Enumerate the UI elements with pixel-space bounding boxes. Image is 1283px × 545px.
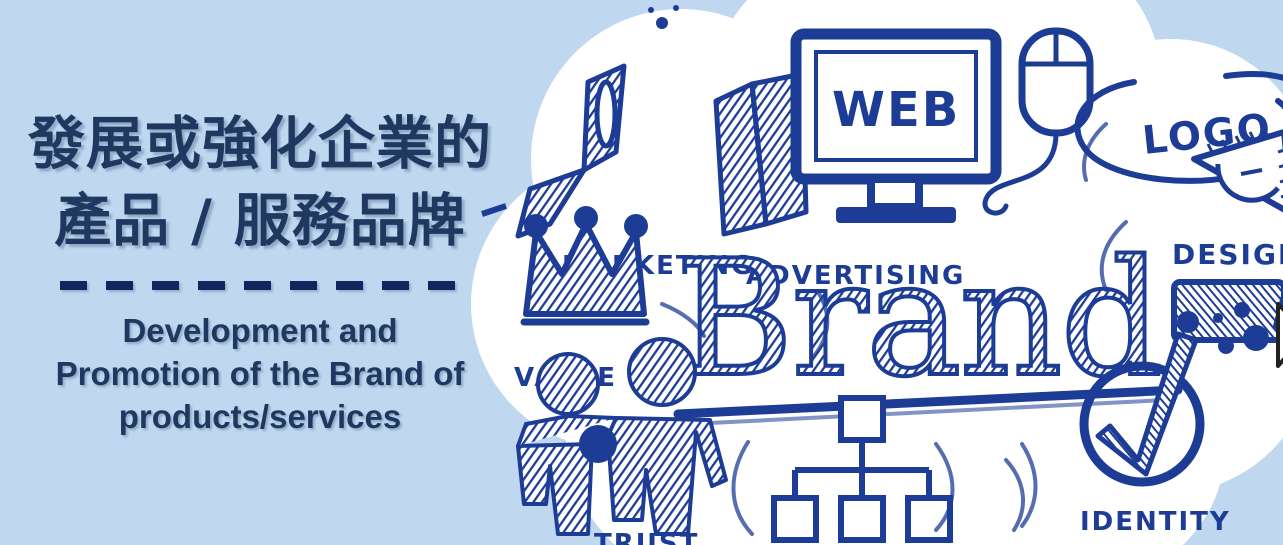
page-title-cjk-line2: 產品 / 服務品牌 — [28, 183, 492, 259]
banner: 發展或強化企業的 產品 / 服務品牌 Development and Promo… — [0, 0, 1283, 545]
page-title-cjk-line1: 發展或強化企業的 — [28, 106, 492, 182]
page-subtitle-en-line1: Development and — [56, 310, 465, 353]
page-title-cjk: 發展或強化企業的 產品 / 服務品牌 — [28, 106, 492, 259]
page-subtitle-en-line2: Promotion of the Brand of — [56, 353, 465, 396]
page-subtitle-en-line3: products/services — [56, 396, 465, 439]
cloud-shape — [466, 0, 1283, 545]
dashed-divider — [60, 281, 460, 290]
left-text-panel: 發展或強化企業的 產品 / 服務品牌 Development and Promo… — [0, 0, 520, 545]
page-subtitle-en: Development and Promotion of the Brand o… — [56, 310, 465, 439]
